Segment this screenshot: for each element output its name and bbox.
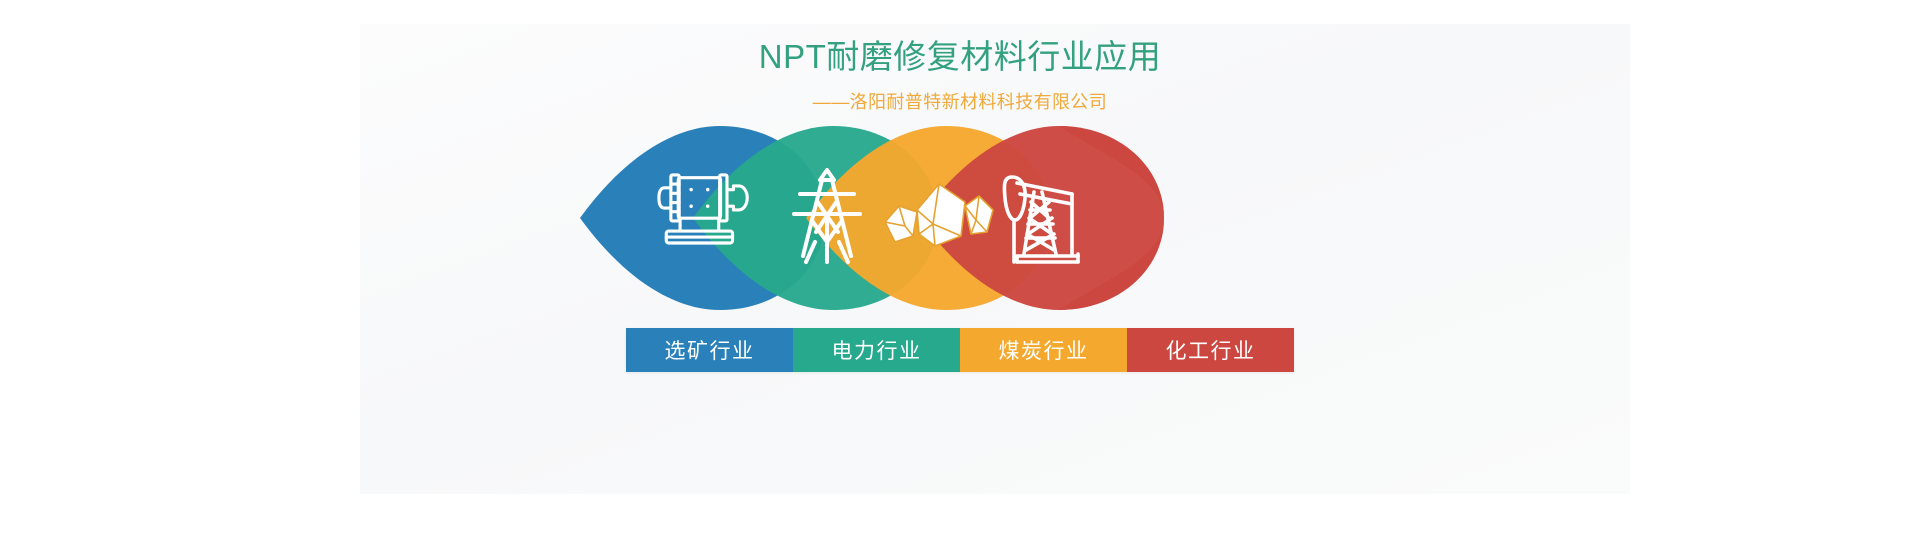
- segment-label-coal[interactable]: 煤炭行业: [960, 328, 1127, 372]
- page-title: NPT耐磨修复材料行业应用: [0, 36, 1920, 78]
- header: NPT耐磨修复材料行业应用 ——洛阳耐普特新材料科技有限公司: [0, 36, 1920, 115]
- segment-label-power[interactable]: 电力行业: [793, 328, 960, 372]
- petal-diagram: [580, 118, 1340, 318]
- segment-label-mineral-processing[interactable]: 选矿行业: [626, 328, 793, 372]
- segment-petal-row: [0, 118, 1920, 318]
- infographic-stage: NPT耐磨修复材料行业应用 ——洛阳耐普特新材料科技有限公司: [0, 0, 1920, 540]
- page-subtitle: ——洛阳耐普特新材料科技有限公司: [0, 89, 1920, 115]
- segment-label-chemical[interactable]: 化工行业: [1127, 328, 1294, 372]
- segment-label-bar: 选矿行业 电力行业 煤炭行业 化工行业: [0, 328, 1920, 372]
